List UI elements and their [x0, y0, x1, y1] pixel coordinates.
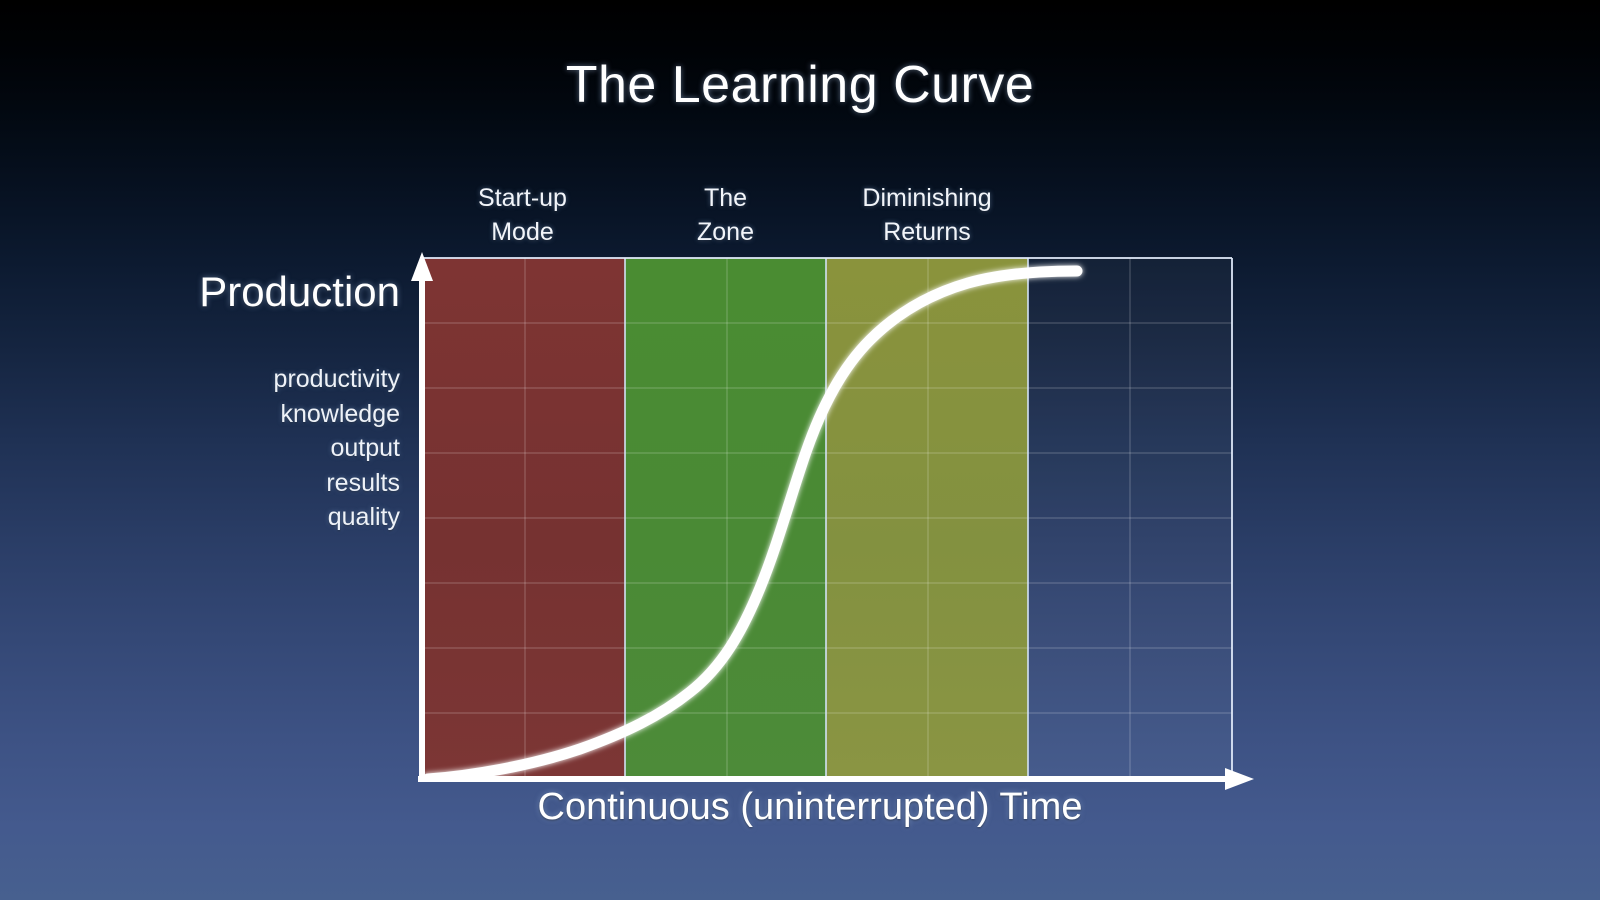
learning-curve-chart [0, 0, 1600, 900]
slide-canvas: The Learning Curve Start-up Mode The Zon… [0, 0, 1600, 900]
x-axis-arrowhead [1225, 768, 1254, 790]
